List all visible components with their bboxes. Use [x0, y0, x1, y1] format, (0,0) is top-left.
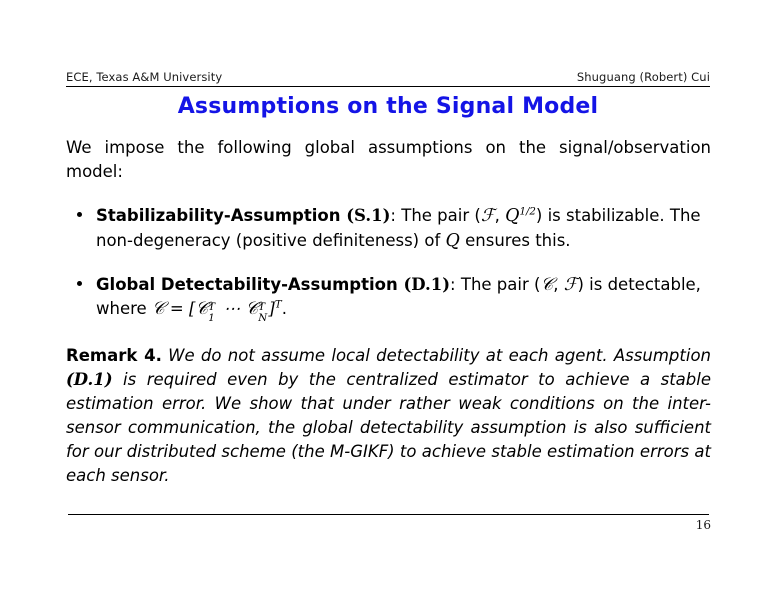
- bullet-dot-icon: [77, 281, 82, 286]
- assumption-colon: :: [390, 206, 396, 225]
- symbol-script-q-2: 𝑄: [446, 231, 460, 251]
- bullet-dot-icon: [77, 212, 82, 217]
- remark-text-a: We do not assume local detectability at …: [168, 346, 711, 365]
- period: .: [282, 299, 287, 318]
- assumption-tag-open: (: [398, 275, 412, 294]
- list-item: Global Detectability-Assumption (D.1): T…: [66, 273, 711, 323]
- symbol-script-f: ℱ: [564, 275, 578, 295]
- header-divider: [66, 86, 710, 87]
- intro-paragraph: We impose the following global assumptio…: [66, 136, 711, 184]
- assumption-colon: :: [450, 275, 456, 294]
- page-title: Assumptions on the Signal Model: [0, 94, 776, 119]
- assumption-text-c: ensures this.: [460, 231, 571, 250]
- remark-assumption-tag: (D.1): [66, 370, 113, 389]
- assumption-comma: ,: [495, 206, 506, 225]
- assumption-label: Stabilizability-Assumption: [96, 206, 340, 225]
- assumption-tag-open: (: [340, 206, 354, 225]
- ellipsis: ⋯: [218, 299, 245, 318]
- slide-page: { "header": { "left": "ECE, Texas A&M Un…: [0, 0, 776, 600]
- remark-label: Remark 4.: [66, 346, 162, 365]
- remark-text-b: is required even by the centralized esti…: [66, 370, 711, 485]
- slide-body: We impose the following global assumptio…: [66, 136, 711, 488]
- symbol-script-q: 𝑄: [505, 206, 519, 226]
- page-number: 16: [696, 518, 711, 532]
- header-affiliation: ECE, Texas A&M University: [66, 70, 222, 84]
- assumption-comma: ,: [553, 275, 564, 294]
- assumption-tag-close: ): [442, 275, 450, 294]
- exponent-one-half: 1/2: [519, 207, 535, 218]
- symbol-script-f: ℱ: [481, 206, 495, 226]
- assumption-tag: D.1: [411, 275, 442, 294]
- assumption-tag: S.1: [354, 206, 383, 225]
- assumption-text-a: The pair (: [401, 206, 481, 225]
- symbol-script-c-2: 𝒞: [152, 299, 165, 319]
- header-author: Shuguang (Robert) Cui: [577, 70, 710, 84]
- remark-paragraph: Remark 4. We do not assume local detecta…: [66, 344, 711, 488]
- superscript-t-outer: T: [275, 300, 282, 311]
- assumption-label: Global Detectability-Assumption: [96, 275, 398, 294]
- slide-header: ECE, Texas A&M University Shuguang (Robe…: [66, 70, 710, 84]
- equals-bracket: = [: [165, 299, 196, 318]
- list-item: Stabilizability-Assumption (S.1): The pa…: [66, 204, 711, 254]
- assumption-text-a: The pair (: [461, 275, 541, 294]
- footer-divider: [68, 514, 709, 515]
- symbol-script-c-sub1: 𝒞: [195, 299, 208, 319]
- assumption-list: Stabilizability-Assumption (S.1): The pa…: [66, 204, 711, 322]
- symbol-script-c-subn: 𝒞: [245, 299, 258, 319]
- symbol-script-c: 𝒞: [540, 275, 553, 295]
